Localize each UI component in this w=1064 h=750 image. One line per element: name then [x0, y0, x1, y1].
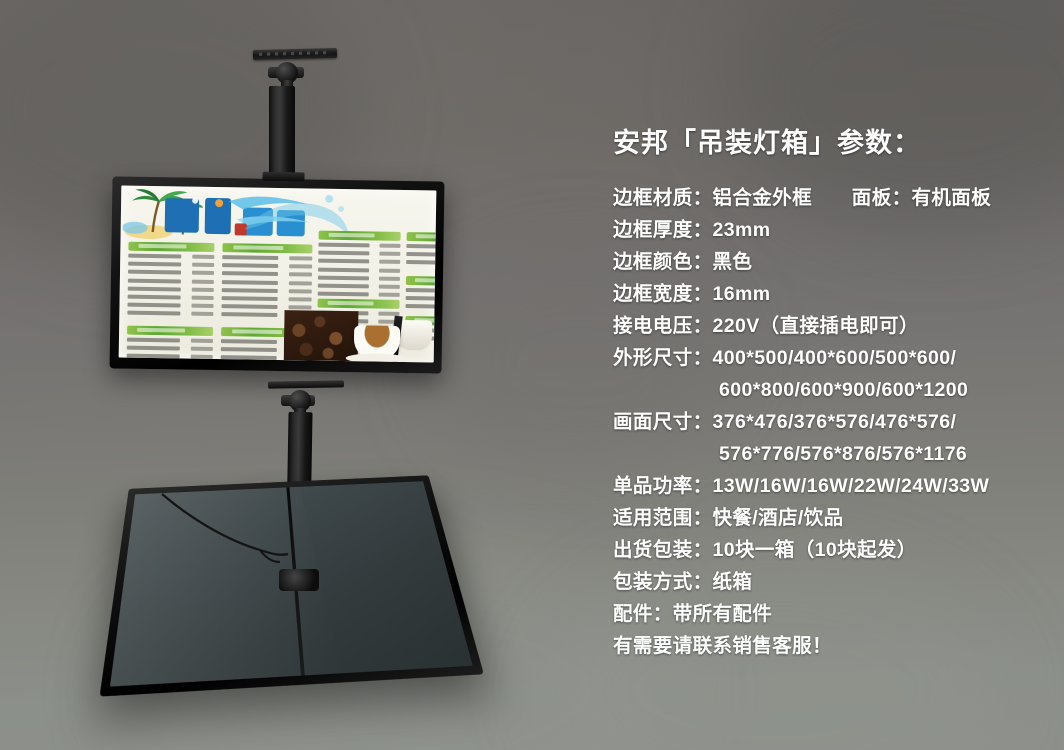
- menu-section-header: [319, 231, 401, 241]
- spec-line: 600*800/600*900/600*1200: [613, 374, 1043, 406]
- menu-row: [406, 288, 437, 295]
- menu-poster-panel: [119, 186, 437, 363]
- product-photo-scene: 安邦「吊装灯箱」参数： 边框材质：铝合金外框 面板：有机面板边框厚度：23mm边…: [0, 0, 1064, 750]
- menu-row: [128, 286, 214, 293]
- menu-row: [128, 270, 214, 277]
- coffee-saucer: [346, 353, 408, 362]
- spec-line: 画面尺寸：376*476/376*576/476*576/: [613, 406, 1043, 438]
- ball-joint-knuckle-top: [268, 58, 304, 88]
- coffee-photo-illustration: [284, 298, 435, 362]
- menu-section: [126, 326, 213, 363]
- menu-row: [127, 354, 213, 361]
- menu-row: [318, 284, 400, 291]
- menu-row: [318, 251, 400, 258]
- spec-line: 包装方式：纸箱: [613, 566, 1043, 598]
- menu-row: [222, 255, 312, 262]
- spec-line: 有需要请联系销售客服！: [613, 630, 1043, 662]
- menu-section-header: [406, 276, 436, 286]
- menu-row: [128, 262, 214, 269]
- coffee-beans: [284, 310, 359, 361]
- lightbox-frame-lit: [110, 176, 445, 373]
- menu-section-header: [222, 243, 312, 253]
- spec-line: 单品功率：13W/16W/16W/22W/24W/33W: [613, 470, 1043, 502]
- menu-row: [318, 259, 400, 266]
- frame-top-bracket: [262, 172, 304, 182]
- menu-row: [318, 275, 400, 282]
- pole-clamp: [279, 569, 319, 591]
- menu-row: [128, 278, 214, 285]
- spec-line: 边框宽度：16mm: [613, 278, 1043, 310]
- specification-panel: 安邦「吊装灯箱」参数： 边框材质：铝合金外框 面板：有机面板边框厚度：23mm边…: [613, 126, 1043, 662]
- menu-row: [406, 252, 436, 259]
- spec-title: 安邦「吊装灯箱」参数：: [613, 126, 1043, 160]
- menu-section: [406, 232, 436, 270]
- spec-line: 接电电压：220V（直接插电即可）: [613, 310, 1043, 342]
- spec-line: 适用范围：快餐/酒店/饮品: [613, 502, 1043, 534]
- spec-line: 边框厚度：23mm: [613, 214, 1043, 246]
- menu-section-header: [407, 232, 437, 242]
- spec-line: 边框材质：铝合金外框 面板：有机面板: [613, 182, 1043, 214]
- menu-row: [222, 272, 312, 279]
- menu-section-header: [128, 242, 214, 252]
- menu-row: [222, 280, 312, 287]
- menu-section: [318, 231, 401, 302]
- menu-row: [222, 263, 312, 270]
- menu-row: [406, 244, 436, 251]
- menu-row: [406, 260, 436, 267]
- menu-row: [127, 311, 213, 318]
- menu-row: [318, 267, 400, 274]
- spec-line: 出货包装：10块一箱（10块起发）: [613, 534, 1043, 566]
- coffee-cup-front: [354, 325, 401, 360]
- spec-line: 576*776/576*876/576*1176: [613, 438, 1043, 470]
- ball-joint-knuckle-bottom: [281, 386, 315, 414]
- menu-row: [128, 295, 214, 302]
- mount-screws: [259, 51, 331, 56]
- menu-row: [222, 288, 312, 295]
- menu-row: [127, 338, 213, 345]
- spec-line: 配件：带所有配件: [613, 598, 1043, 630]
- menu-row: [128, 254, 214, 261]
- menu-row: [318, 243, 400, 250]
- spec-line-list: 边框材质：铝合金外框 面板：有机面板边框厚度：23mm边框颜色：黑色边框宽度：1…: [613, 182, 1043, 662]
- ceiling-mounted-lightbox: [0, 0, 520, 750]
- spec-line: 边框颜色：黑色: [613, 246, 1043, 278]
- menu-row: [127, 346, 213, 353]
- menu-row: [127, 303, 213, 310]
- menu-section: [127, 242, 214, 321]
- spec-line: 外形尺寸：400*500/400*600/500*600/: [613, 342, 1043, 374]
- menu-section-header: [127, 326, 213, 336]
